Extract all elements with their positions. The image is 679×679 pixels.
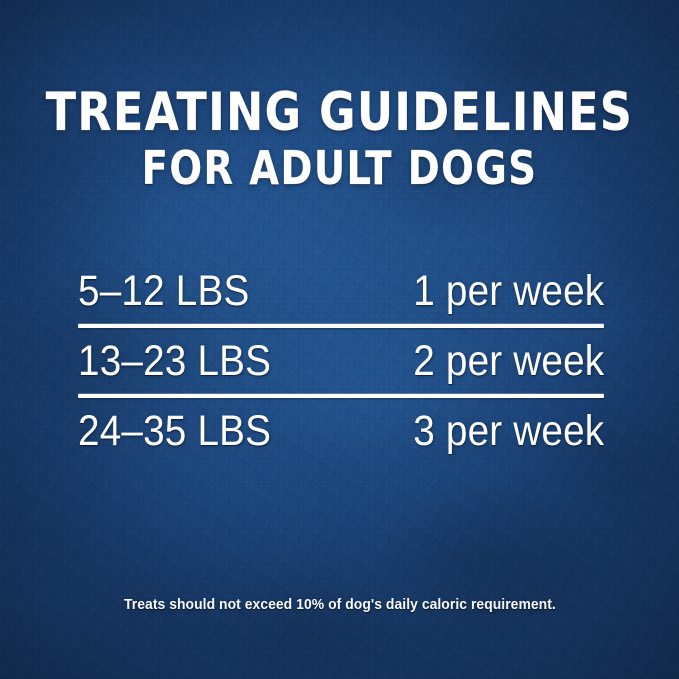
feeding-guidelines-table: 5–12 LBS 1 per week 13–23 LBS 2 per week…	[78, 258, 604, 464]
cell-weight-range: 5–12 LBS	[78, 258, 249, 324]
treating-guidelines-poster: TREATING GUIDELINES FOR ADULT DOGS 5–12 …	[0, 0, 679, 679]
footnote-text: Treats should not exceed 10% of dog's da…	[124, 597, 556, 613]
cell-treat-frequency: 3 per week	[413, 398, 604, 464]
title-line-primary: TREATING GUIDELINES	[24, 86, 655, 139]
cell-treat-frequency: 2 per week	[413, 328, 604, 394]
cell-treat-frequency: 1 per week	[413, 258, 604, 324]
title-line-secondary: FOR ADULT DOGS	[24, 145, 655, 191]
table-row: 24–35 LBS 3 per week	[78, 398, 604, 464]
table-row: 5–12 LBS 1 per week	[78, 258, 604, 324]
cell-weight-range: 13–23 LBS	[78, 328, 271, 394]
poster-content: TREATING GUIDELINES FOR ADULT DOGS 5–12 …	[0, 0, 679, 679]
page-title: TREATING GUIDELINES FOR ADULT DOGS	[0, 86, 679, 191]
footnote-disclaimer: Treats should not exceed 10% of dog's da…	[0, 597, 679, 613]
cell-weight-range: 24–35 LBS	[78, 398, 271, 464]
table-row: 13–23 LBS 2 per week	[78, 328, 604, 394]
